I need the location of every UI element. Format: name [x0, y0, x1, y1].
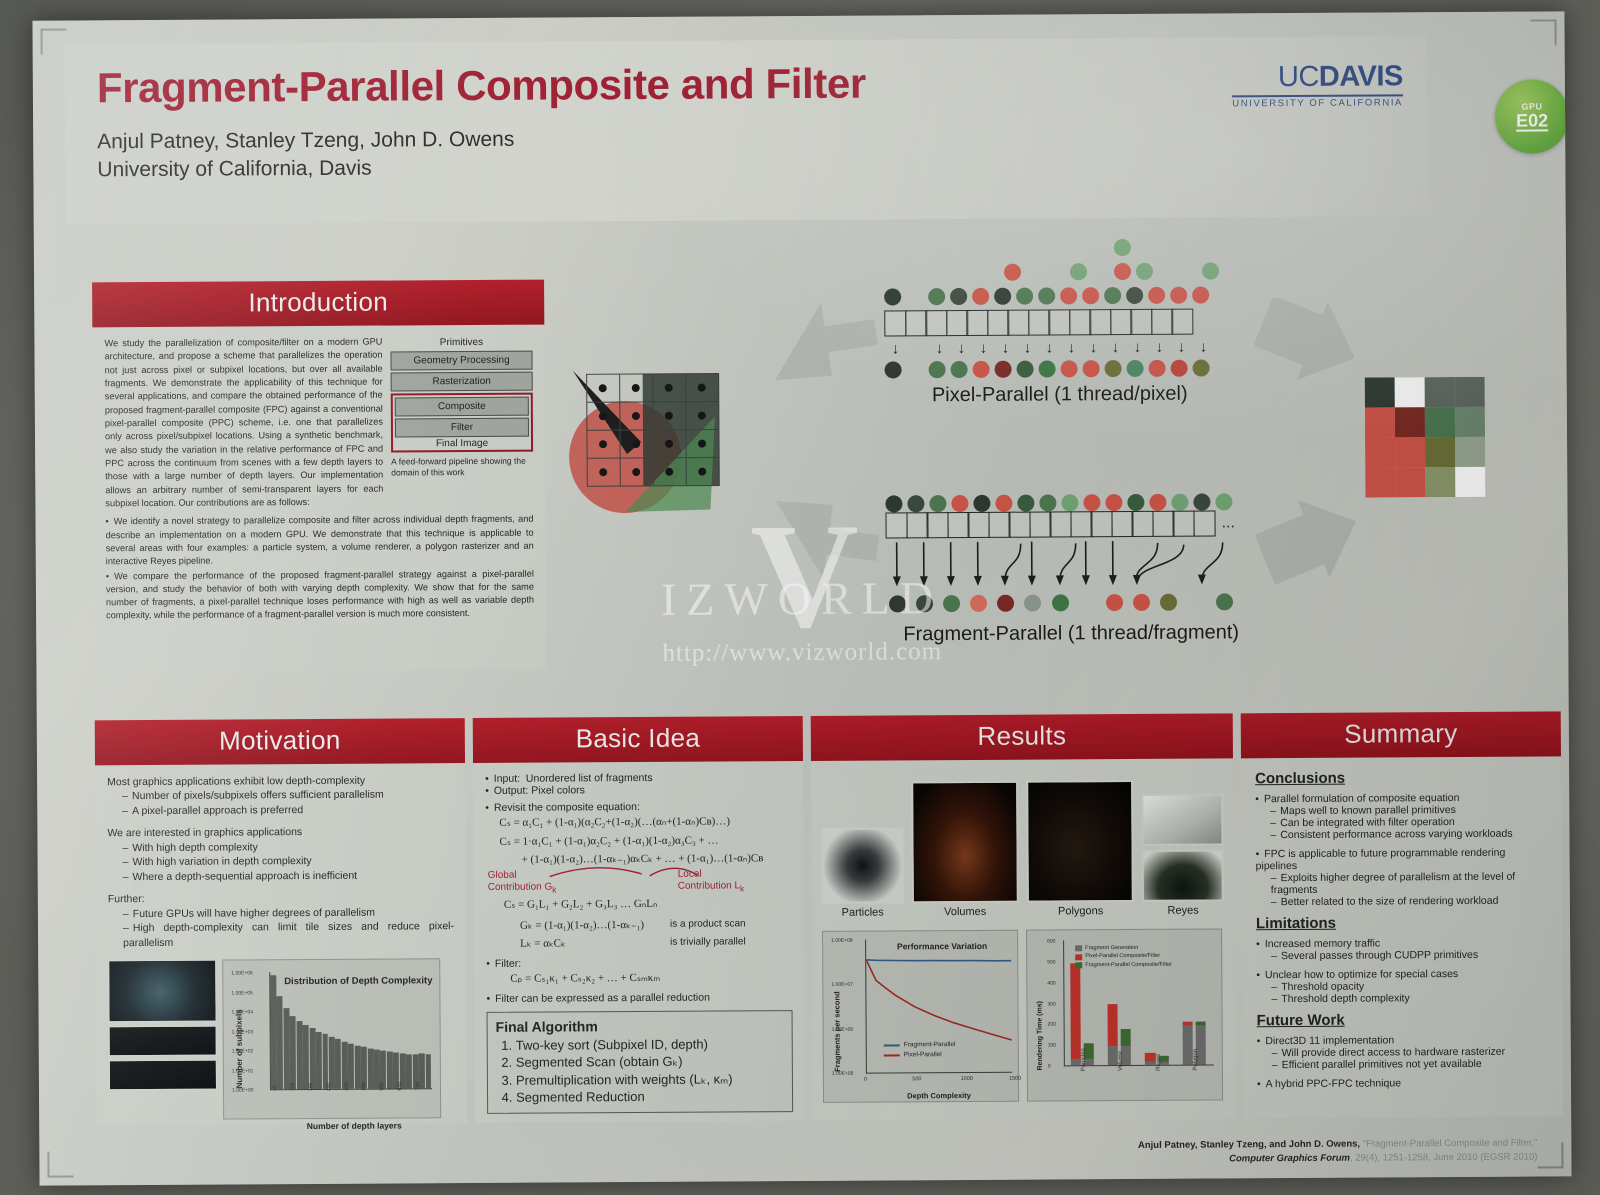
flow-arrow-up-icon [764, 290, 885, 381]
depth-chart-bar [335, 1039, 341, 1089]
citation-journal: Computer Graphics Forum [1229, 1152, 1350, 1164]
results-caption: Reyes [1142, 904, 1224, 916]
pp-pixel-buffer [884, 308, 1234, 336]
conference-badge: GPU E02 [1495, 79, 1569, 153]
summary-sub-bullet: Will provide direct access to hardware r… [1257, 1045, 1549, 1059]
fragment-parallel-diagram: ... [885, 493, 1256, 646]
depth-chart-bar [270, 976, 277, 1090]
perf-chart-series [866, 959, 1011, 962]
contribution-brace-icon [546, 863, 846, 881]
results-thumb-reyes-grass [1142, 849, 1224, 901]
summary-section-title: Conclusions [1255, 768, 1547, 787]
pipeline-stage-geometry: Geometry Processing [390, 351, 532, 371]
logo-uc-text: UC [1278, 61, 1319, 93]
panel-basic-idea: Basic Idea Input: Unordered list of frag… [473, 716, 805, 1123]
subpixel-grid-illustration [565, 361, 736, 522]
perf-chart-legend-item: Pixel-Parallel [884, 1051, 956, 1058]
legend-swatch [1075, 962, 1082, 968]
pipeline-stage-filter: Filter [395, 418, 529, 438]
rendering-time-bar-fragment-generation [1108, 1046, 1118, 1065]
fragment-parallel-label: Fragment-Parallel (1 thread/fragment) [886, 621, 1256, 646]
badge-top-text: GPU [1521, 101, 1542, 111]
legend-label: Fragment-Parallel Composite/Filter [1085, 961, 1172, 970]
perf-chart-xtick: 0 [864, 1077, 867, 1083]
depth-chart-xtick: 10 [272, 1086, 279, 1092]
motivation-thumbnail-mid [109, 1026, 217, 1057]
citation: Anjul Patney, Stanley Tzeng, and John D.… [1138, 1136, 1538, 1167]
depth-chart-ytick: 1.00E+05 [231, 990, 253, 997]
final-algorithm-title: Final Algorithm [496, 1017, 784, 1035]
perf-chart-ytick: 1.00E+05 [832, 1071, 854, 1077]
depth-chart-bar [406, 1054, 412, 1089]
pipeline-stage-composite: Composite [395, 397, 529, 417]
composite-equation-1: Cₛ = α₁C₁ + (1-α₁)(α₂C₂+(1-α₂)(…(αₙ+(1-α… [499, 812, 791, 832]
motivation-thumbnail-top [108, 960, 216, 1023]
legend-label: Pixel-Parallel [904, 1051, 942, 1058]
pipeline-caption: A feed-forward pipeline showing the doma… [391, 456, 533, 478]
rendering-time-bar-pixel-parallel [1070, 963, 1081, 1059]
summary-sub-bullet: Better related to the size of rendering … [1256, 894, 1548, 908]
perf-chart-xtick: 1000 [961, 1076, 973, 1082]
depth-chart-bar [354, 1045, 360, 1089]
equation-g-note: is a product scan [670, 915, 746, 934]
poster-board: Fragment-Parallel Composite and Filter A… [32, 11, 1571, 1185]
depth-chart-bar [290, 1016, 296, 1090]
panel-introduction: Introduction We study the parallelizatio… [92, 280, 546, 673]
equation-filter: Cₚ = Cₛ₁κ₁ + Cₛ₂κ₂ + … + Cₛₘκₘ [486, 968, 792, 989]
pixel-parallel-label: Pixel-Parallel (1 thread/pixel) [885, 382, 1235, 407]
basic-idea-output-value: Pixel colors [531, 784, 585, 796]
perf-chart-series [866, 959, 1011, 1041]
motivation-thumbnail-bottom [109, 1060, 217, 1091]
badge-code: E02 [1516, 111, 1548, 132]
algorithm-step: Segmented Reduction [516, 1088, 784, 1107]
bar-chart-ytick: 500 [1047, 959, 1055, 965]
depth-chart-bar [296, 1021, 302, 1089]
bar-chart-legend-item: Fragment-Parallel Composite/Filter [1075, 961, 1172, 970]
depth-chart-bar [283, 1009, 289, 1090]
perf-chart-ytick: 1.00E+08 [831, 938, 853, 944]
bar-chart-ytick: 200 [1048, 1022, 1056, 1028]
bar-chart-ytick: 0 [1048, 1063, 1051, 1069]
legend-swatch [884, 1054, 900, 1056]
legend-label: Fragment-Parallel [904, 1041, 956, 1048]
summary-sub-bullet: Exploits higher degree of parallelism at… [1256, 870, 1548, 896]
algorithm-step: Premultiplication with weights (Lₖ, κₘ) [516, 1070, 784, 1089]
citation-details: , 29(4), 1251-1258, June 2010 (EGSR 2010… [1350, 1151, 1538, 1163]
flow-arrow-down-icon [765, 495, 886, 591]
bar-chart-xtick: Volume [1118, 1051, 1124, 1071]
legend-swatch [1075, 945, 1082, 951]
motivation-sub: High depth-complexity can limit tile siz… [108, 919, 454, 950]
logo-davis-text: DAVIS [1319, 60, 1403, 93]
poster-header: Fragment-Parallel Composite and Filter A… [65, 36, 1428, 224]
depth-chart-bar [316, 1032, 322, 1090]
depth-chart-xtick: 370 [343, 1083, 350, 1091]
chart-performance-variation: Fragments per second Performance Variati… [822, 930, 1019, 1103]
rendering-time-bar-fragment-generation [1071, 1059, 1081, 1065]
summary-bullet: FPC is applicable to future programmable… [1256, 846, 1548, 872]
chart-depth-complexity: Number of subpixels Distribution of Dept… [222, 959, 441, 1120]
composite-equation-2: Cₛ = 1·α₁C₁ + (1-α₁)α₂C₂ + (1-α₁)(1-α₂)α… [499, 831, 791, 851]
results-thumb-polygons [1026, 780, 1134, 903]
rendering-time-bar-pixel-parallel [1182, 1022, 1192, 1026]
depth-chart-xtick: 100 [290, 1083, 297, 1091]
depth-chart-bar [387, 1052, 393, 1089]
summary-section-title: Limitations [1256, 913, 1548, 932]
bar-chart-ytick: 100 [1048, 1043, 1056, 1049]
results-caption: Particles [822, 906, 904, 918]
flow-arrow-result-top-icon [1254, 298, 1365, 389]
motivation-heading: Motivation [95, 718, 465, 765]
depth-chart-ytick: 1.00E+06 [231, 971, 253, 978]
panel-results: Results Particles Volumes Polygons [811, 713, 1235, 1121]
flow-arrow-result-bottom-icon [1255, 498, 1366, 589]
motivation-sub: Where a depth-sequential approach is ine… [108, 868, 454, 885]
bar-chart-ytick: 300 [1047, 1001, 1055, 1007]
overview-diagram: ↓ ↓↓ ↓↓↓↓ ↓↓↓↓ ↓↓↓ [564, 237, 1427, 687]
pipeline-final-image-label: Final Image [395, 438, 529, 450]
introduction-heading: Introduction [92, 280, 544, 328]
depth-chart-ytick: 1.00E+04 [232, 1010, 254, 1017]
filter-note: Filter can be expressed as a parallel re… [486, 991, 792, 1005]
panel-summary: Summary ConclusionsParallel formulation … [1241, 711, 1563, 1118]
basic-idea-heading: Basic Idea [473, 716, 803, 763]
fp-output-pixels [886, 593, 1256, 617]
pp-incoming-fragments [884, 238, 1234, 310]
depth-chart-xtick: 550 [379, 1083, 386, 1091]
results-caption: Volumes [911, 906, 1019, 919]
logo-subtitle: UNIVERSITY OF CALIFORNIA [1232, 94, 1403, 109]
corner-mark-bl [47, 1151, 73, 1177]
pp-output-pixels [885, 359, 1235, 378]
pipeline-highlight-region: Composite Filter Final Image [391, 393, 533, 453]
summary-heading: Summary [1241, 711, 1561, 758]
final-algorithm-box: Final Algorithm Two-key sort (Subpixel I… [487, 1010, 794, 1114]
results-thumb-particles [821, 827, 903, 903]
depth-chart-ytick: 1.00E+00 [232, 1088, 254, 1095]
perf-chart-ytick: 1.00E+06 [832, 1026, 854, 1032]
pp-thread-arrows: ↓ ↓↓ ↓↓↓↓ ↓↓↓↓ ↓↓↓ [884, 338, 1234, 357]
bar-chart-ytick: 400 [1047, 980, 1055, 986]
depth-chart-xtick: 730 [415, 1082, 422, 1090]
perf-chart-xtick: 500 [912, 1076, 921, 1082]
fp-reduction-arrows [886, 538, 1246, 594]
summary-bullet: A hybrid PPC-FPC technique [1257, 1076, 1549, 1090]
motivation-sub: A pixel-parallel approach is preferred [107, 802, 453, 819]
rendering-time-bar-fragment-generation [1182, 1026, 1192, 1065]
result-image-thumbnail [1365, 377, 1486, 498]
bar-chart-xtick: Reyes [1155, 1054, 1161, 1071]
depth-chart-bar [322, 1034, 328, 1089]
depth-chart-xtick: 280 [326, 1083, 333, 1091]
rendering-time-bar-fragment-parallel [1121, 1029, 1131, 1047]
bar-chart-xtick: Particles [1081, 1048, 1087, 1071]
depth-chart-bar [425, 1055, 431, 1089]
introduction-bullet: We compare the performance of the propos… [106, 567, 534, 622]
pipeline-diagram: Primitives Geometry Processing Rasteriza… [390, 335, 533, 509]
perf-chart-ytick: 1.00E+07 [831, 982, 853, 988]
depth-chart-xtick: 460 [361, 1083, 368, 1091]
equation-l: Lₖ = αₖCₖ [520, 934, 670, 954]
perf-chart-xlabel: Depth Complexity [864, 1091, 1014, 1101]
citation-title: "Fragment-Parallel Composite and Filter,… [1360, 1137, 1537, 1149]
depth-chart-ytick: 1.00E+01 [232, 1068, 254, 1075]
algorithm-step: Segmented Scan (obtain Gₖ) [516, 1052, 784, 1071]
fp-fragment-buffer [885, 510, 1213, 538]
introduction-abstract: We study the parallelization of composit… [104, 336, 383, 511]
legend-label: Fragment Generation [1085, 944, 1138, 953]
equation-g: Gₖ = (1-α₁)(1-α₂)…(1-αₖ₋₁) [520, 916, 670, 936]
pipeline-top-label: Primitives [390, 337, 532, 349]
basic-idea-input-value: Unordered list of fragments [526, 772, 653, 785]
depth-chart-bar [277, 996, 284, 1089]
bar-chart-ylabel: Rendering Time (ms) [1036, 1001, 1043, 1071]
page-title: Fragment-Parallel Composite and Filter [97, 58, 1405, 110]
depth-chart-bar [303, 1025, 309, 1089]
depth-chart-xtick: 190 [308, 1083, 315, 1091]
summary-section-title: Future Work [1257, 1010, 1549, 1029]
ucdavis-logo: UCDAVIS UNIVERSITY OF CALIFORNIA [1232, 60, 1403, 109]
basic-idea-input-label: Input: [494, 773, 520, 785]
chart-rendering-time: Rendering Time (ms) 6005004003002001000 … [1026, 928, 1223, 1101]
summary-sub-bullet: Efficient parallel primitives not yet av… [1257, 1057, 1549, 1071]
rendering-time-bar-pixel-parallel [1145, 1052, 1155, 1061]
results-caption: Polygons [1027, 905, 1135, 918]
depth-chart-bar [367, 1048, 373, 1089]
bar-chart-ytick: 600 [1047, 938, 1055, 944]
bar-chart-xtick: Polygon [1193, 1049, 1199, 1071]
corner-mark-br [1537, 1142, 1563, 1168]
rendering-time-bar-fragment-generation [1145, 1062, 1155, 1065]
depth-chart-xlabel: Number of depth layers [264, 1120, 444, 1133]
depth-chart-bar [309, 1028, 315, 1089]
algorithm-step: Two-key sort (Subpixel ID, depth) [516, 1035, 784, 1054]
corner-mark-tl [41, 28, 67, 54]
panel-motivation: Motivation Most graphics applications ex… [95, 718, 467, 1125]
results-thumb-volumes [911, 781, 1019, 904]
pipeline-stage-rasterization: Rasterization [391, 372, 533, 392]
depth-chart-xtick: 640 [397, 1082, 404, 1090]
summary-sub-bullet: Several passes through CUDPP primitives [1256, 948, 1548, 962]
perf-chart-xtick: 1500 [1009, 1076, 1021, 1082]
corner-mark-tr [1530, 19, 1556, 45]
legend-swatch [884, 1044, 900, 1046]
fp-buffer-ellipsis: ... [1221, 514, 1234, 532]
results-heading: Results [811, 713, 1233, 761]
introduction-bullet: We identify a novel strategy to parallel… [105, 513, 533, 568]
citation-authors: Anjul Patney, Stanley Tzeng, and John D.… [1138, 1138, 1360, 1150]
rendering-time-bar-fragment-parallel [1195, 1021, 1205, 1026]
legend-swatch [1075, 954, 1082, 960]
depth-chart-ytick: 1.00E+03 [232, 1029, 254, 1036]
depth-chart-ytick: 1.00E+02 [232, 1049, 254, 1056]
depth-chart-bar [329, 1037, 335, 1089]
summary-sub-bullet: Threshold depth complexity [1256, 991, 1548, 1005]
equation-l-note: is trivially parallel [670, 934, 746, 953]
perf-chart-legend-item: Fragment-Parallel [884, 1041, 956, 1048]
basic-idea-output-label: Output: [494, 785, 529, 797]
pixel-parallel-diagram: ↓ ↓↓ ↓↓↓↓ ↓↓↓↓ ↓↓↓ [884, 238, 1235, 407]
summary-sub-bullet: Consistent performance across varying wo… [1255, 827, 1547, 841]
rendering-time-bar-pixel-parallel [1108, 1004, 1118, 1047]
results-thumb-reyes-dino [1142, 793, 1224, 845]
